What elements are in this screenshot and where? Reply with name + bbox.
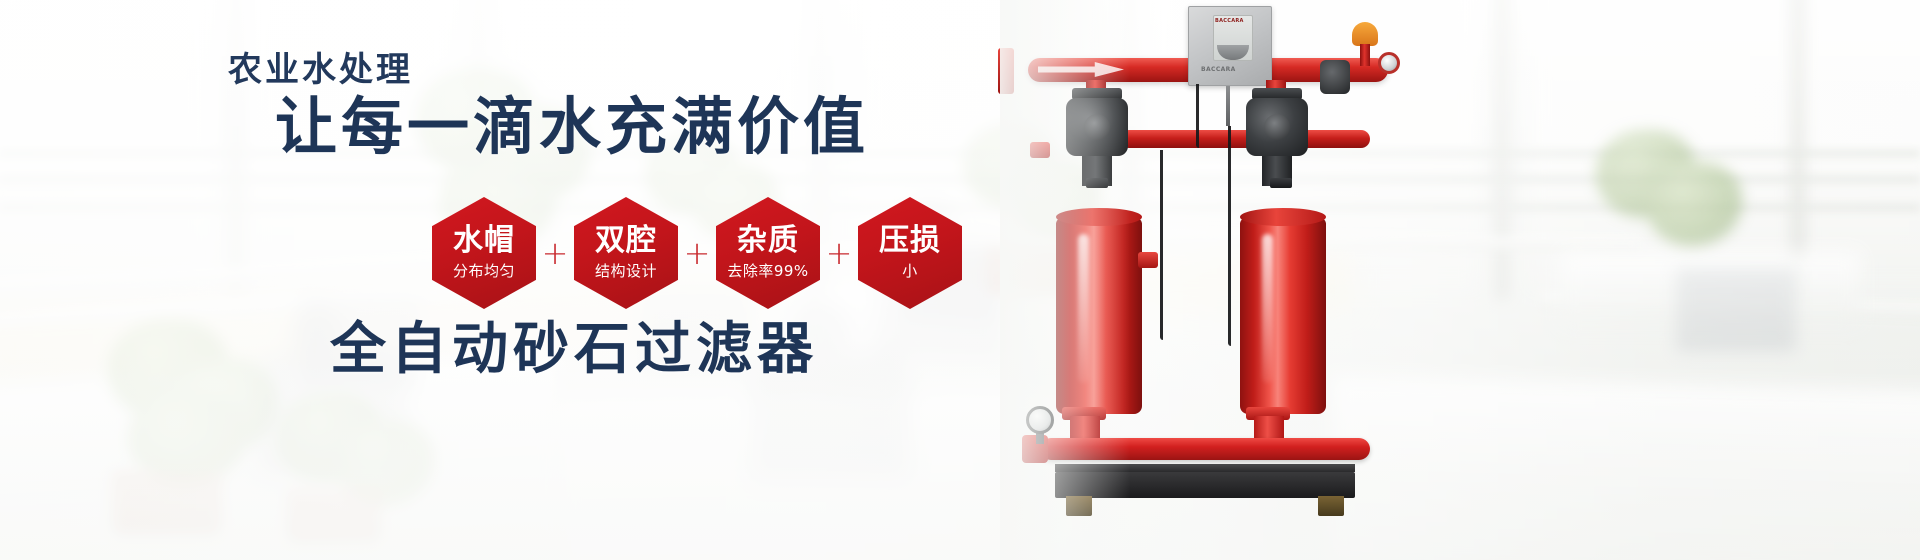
feature-badge-3-title: 杂质 — [737, 225, 799, 257]
controller-mast — [1226, 86, 1230, 126]
feature-badge-1-subtitle: 分布均匀 — [453, 260, 515, 281]
feature-badge-1: 水帽 分布均匀 — [432, 197, 536, 309]
feature-badge-2-title: 双腔 — [595, 225, 657, 257]
feature-badge-2: 双腔 结构设计 — [574, 197, 678, 309]
feature-badge-4-title: 压损 — [879, 225, 941, 257]
copy-block: 农业水处理 让每一滴水充满价值 水帽 分布均匀 + 双腔 结构设计 + 杂质 去… — [0, 0, 1100, 560]
skid-top-rail — [1055, 464, 1355, 472]
skid-foot-right — [1318, 496, 1344, 516]
product-image-sand-gravel-filter: BACCARA BACCARA — [1000, 0, 1920, 560]
cable-left — [1160, 150, 1163, 340]
three-way-valve-right — [1246, 98, 1308, 156]
mid-pipe — [1120, 130, 1370, 148]
feature-badge-2-subtitle: 结构设计 — [595, 260, 657, 281]
product-name-headline: 全自动砂石过滤器 — [330, 322, 818, 378]
feature-badge-4: 压损 小 — [858, 197, 962, 309]
tank-top-right — [1240, 208, 1326, 226]
main-headline: 让每一滴水充满价值 — [275, 96, 869, 158]
air-release-valve — [1352, 22, 1378, 46]
tank-clamp-right — [1270, 178, 1292, 188]
steel-skid-base — [1055, 472, 1355, 498]
top-pressure-gauge — [1378, 52, 1400, 74]
controller-brand-label: BACCARA — [1201, 66, 1236, 73]
plus-separator-2: + — [678, 237, 716, 269]
feature-badge-1-title: 水帽 — [453, 225, 515, 257]
black-valve — [1320, 60, 1350, 94]
cable-main — [1228, 126, 1231, 346]
feature-badge-4-subtitle: 小 — [902, 260, 918, 281]
controller-logo-icon: BACCARA — [1215, 18, 1244, 24]
tank-nozzle-left — [1138, 252, 1158, 268]
cable-upper — [1196, 84, 1199, 148]
plus-separator-1: + — [536, 237, 574, 269]
feature-badge-3: 杂质 去除率99% — [716, 197, 820, 309]
controller-box: BACCARA BACCARA — [1188, 6, 1272, 86]
plus-separator-3: + — [820, 237, 858, 269]
filter-tank-right — [1240, 218, 1326, 414]
promo-banner: BACCARA BACCARA — [0, 0, 1920, 560]
feature-badge-row: 水帽 分布均匀 + 双腔 结构设计 + 杂质 去除率99% + 压损 小 — [432, 197, 962, 309]
feature-badge-3-subtitle: 去除率99% — [727, 260, 808, 281]
air-valve-stem — [1360, 44, 1370, 66]
eyebrow-text: 农业水处理 — [228, 42, 413, 91]
